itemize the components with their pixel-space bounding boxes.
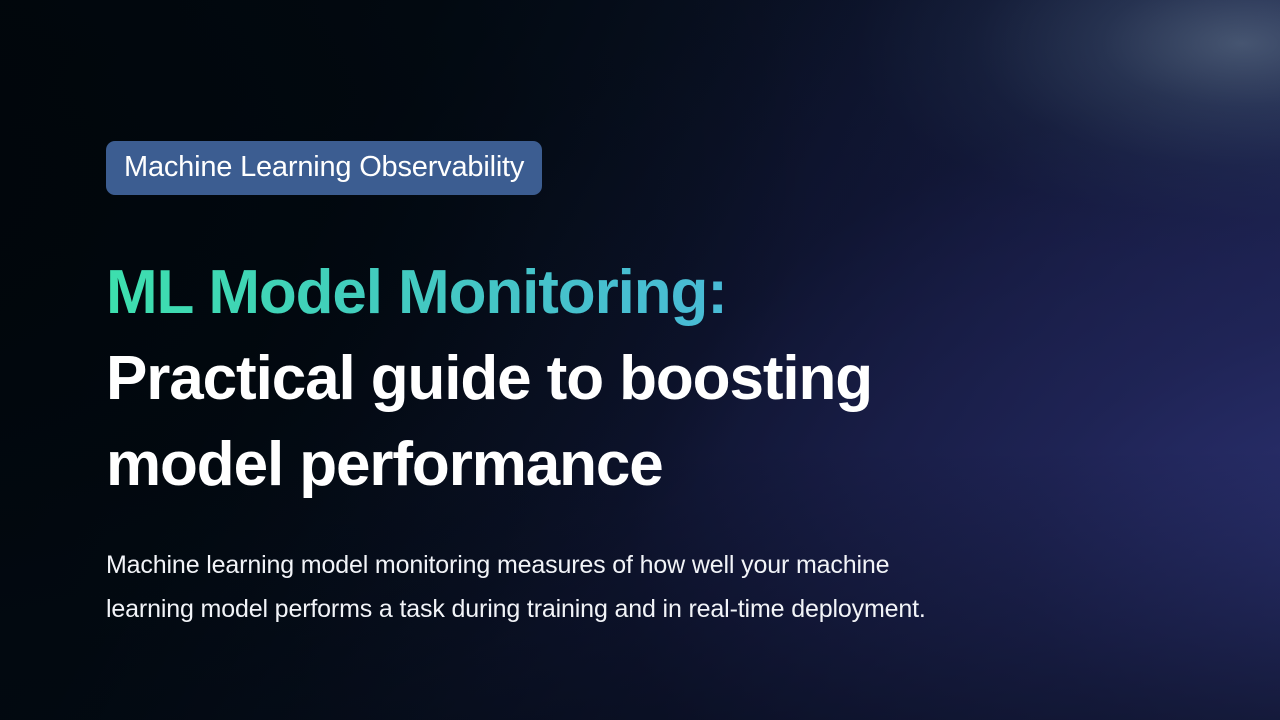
- hero-content: Machine Learning Observability ML Model …: [106, 0, 1166, 720]
- category-badge[interactable]: Machine Learning Observability: [106, 141, 542, 195]
- page-description: Machine learning model monitoring measur…: [106, 543, 1136, 631]
- page-title-line-2: Practical guide to boosting: [106, 336, 1066, 422]
- page-title-line-3: model performance: [106, 422, 1066, 508]
- page-title-line-1: ML Model Monitoring:: [106, 250, 1066, 336]
- hero-banner: Machine Learning Observability ML Model …: [0, 0, 1280, 720]
- page-description-line-2: learning model performs a task during tr…: [106, 587, 1136, 631]
- page-title: ML Model Monitoring: Practical guide to …: [106, 250, 1066, 508]
- page-description-line-1: Machine learning model monitoring measur…: [106, 543, 1136, 587]
